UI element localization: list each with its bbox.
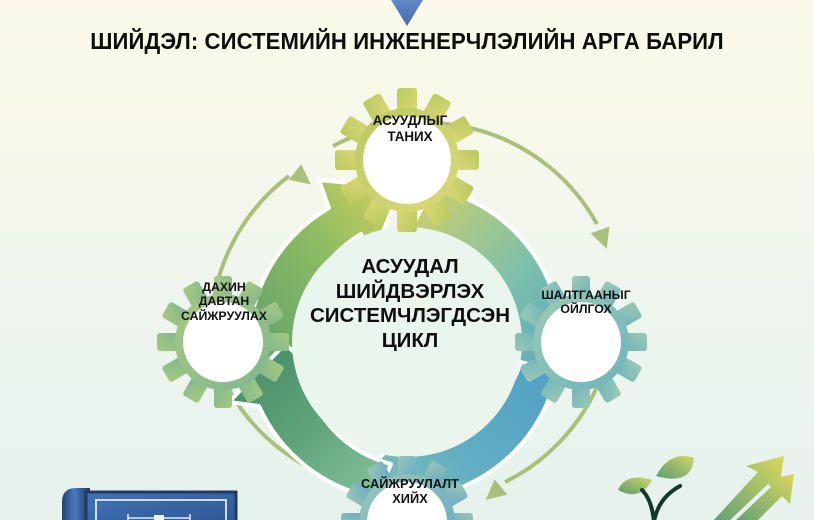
seedling-icon bbox=[618, 456, 694, 520]
infographic-canvas: ШИЙДЭЛ: СИСТЕМИЙН ИНЖЕНЕРЧЛЭЛИЙН АРГА БА… bbox=[0, 0, 814, 520]
problem-solving-cycle-diagram bbox=[133, 72, 681, 520]
page-title: ШИЙДЭЛ: СИСТЕМИЙН ИНЖЕНЕРЧЛЭЛИЙН АРГА БА… bbox=[24, 28, 789, 55]
center-circle bbox=[292, 227, 522, 457]
plant-and-growth-arrows bbox=[608, 452, 808, 520]
top-chevron-icon bbox=[374, 0, 440, 26]
growth-arrows-icon bbox=[712, 456, 794, 520]
blueprint-illustration bbox=[58, 474, 248, 520]
